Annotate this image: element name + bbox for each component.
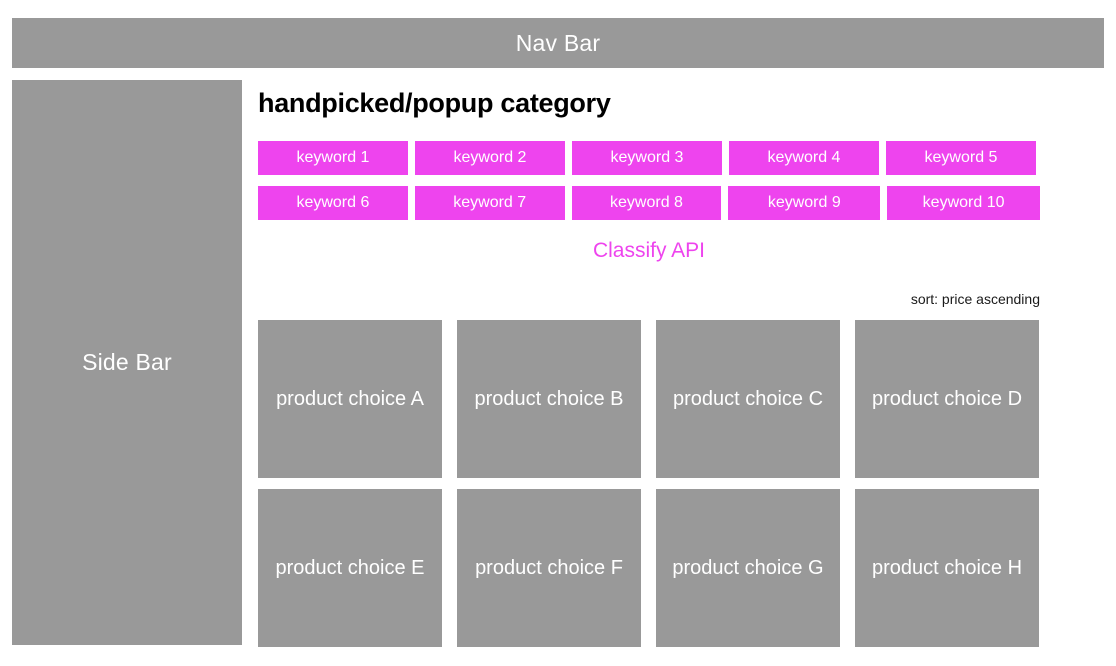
nav-bar-label: Nav Bar [516,32,600,55]
product-card-e[interactable]: product choice E [258,489,442,647]
product-card-label: product choice F [461,555,637,581]
product-grid: product choice A product choice B produc… [258,320,1040,647]
page-title: handpicked/popup category [258,88,611,119]
keyword-row-1: keyword 1 keyword 2 keyword 3 keyword 4 … [258,141,1040,175]
keyword-chip-8[interactable]: keyword 8 [572,186,722,220]
product-card-label: product choice E [262,555,438,581]
keyword-chip-10[interactable]: keyword 10 [887,186,1040,220]
keyword-chip-2[interactable]: keyword 2 [415,141,565,175]
side-bar-label: Side Bar [82,351,172,374]
product-card-label: product choice C [660,386,836,412]
main-content: handpicked/popup category keyword 1 keyw… [258,80,1040,658]
product-card-a[interactable]: product choice A [258,320,442,478]
keyword-chip-1[interactable]: keyword 1 [258,141,408,175]
keyword-chip-4[interactable]: keyword 4 [729,141,879,175]
keyword-chip-5[interactable]: keyword 5 [886,141,1036,175]
product-card-f[interactable]: product choice F [457,489,641,647]
keyword-row-2: keyword 6 keyword 7 keyword 8 keyword 9 … [258,186,1040,220]
keyword-chip-7[interactable]: keyword 7 [415,186,565,220]
product-card-label: product choice B [461,386,637,412]
keyword-chip-3[interactable]: keyword 3 [572,141,722,175]
product-card-label: product choice D [859,386,1035,412]
product-card-b[interactable]: product choice B [457,320,641,478]
sort-label[interactable]: sort: price ascending [911,291,1040,307]
nav-bar: Nav Bar [12,18,1104,68]
classify-api-label[interactable]: Classify API [258,240,1040,261]
product-card-label: product choice H [859,555,1035,581]
product-card-d[interactable]: product choice D [855,320,1039,478]
keyword-chip-9[interactable]: keyword 9 [728,186,880,220]
product-card-h[interactable]: product choice H [855,489,1039,647]
product-card-label: product choice A [262,386,438,412]
side-bar: Side Bar [12,80,242,645]
product-card-g[interactable]: product choice G [656,489,840,647]
product-card-label: product choice G [660,555,836,581]
keyword-chip-6[interactable]: keyword 6 [258,186,408,220]
product-card-c[interactable]: product choice C [656,320,840,478]
